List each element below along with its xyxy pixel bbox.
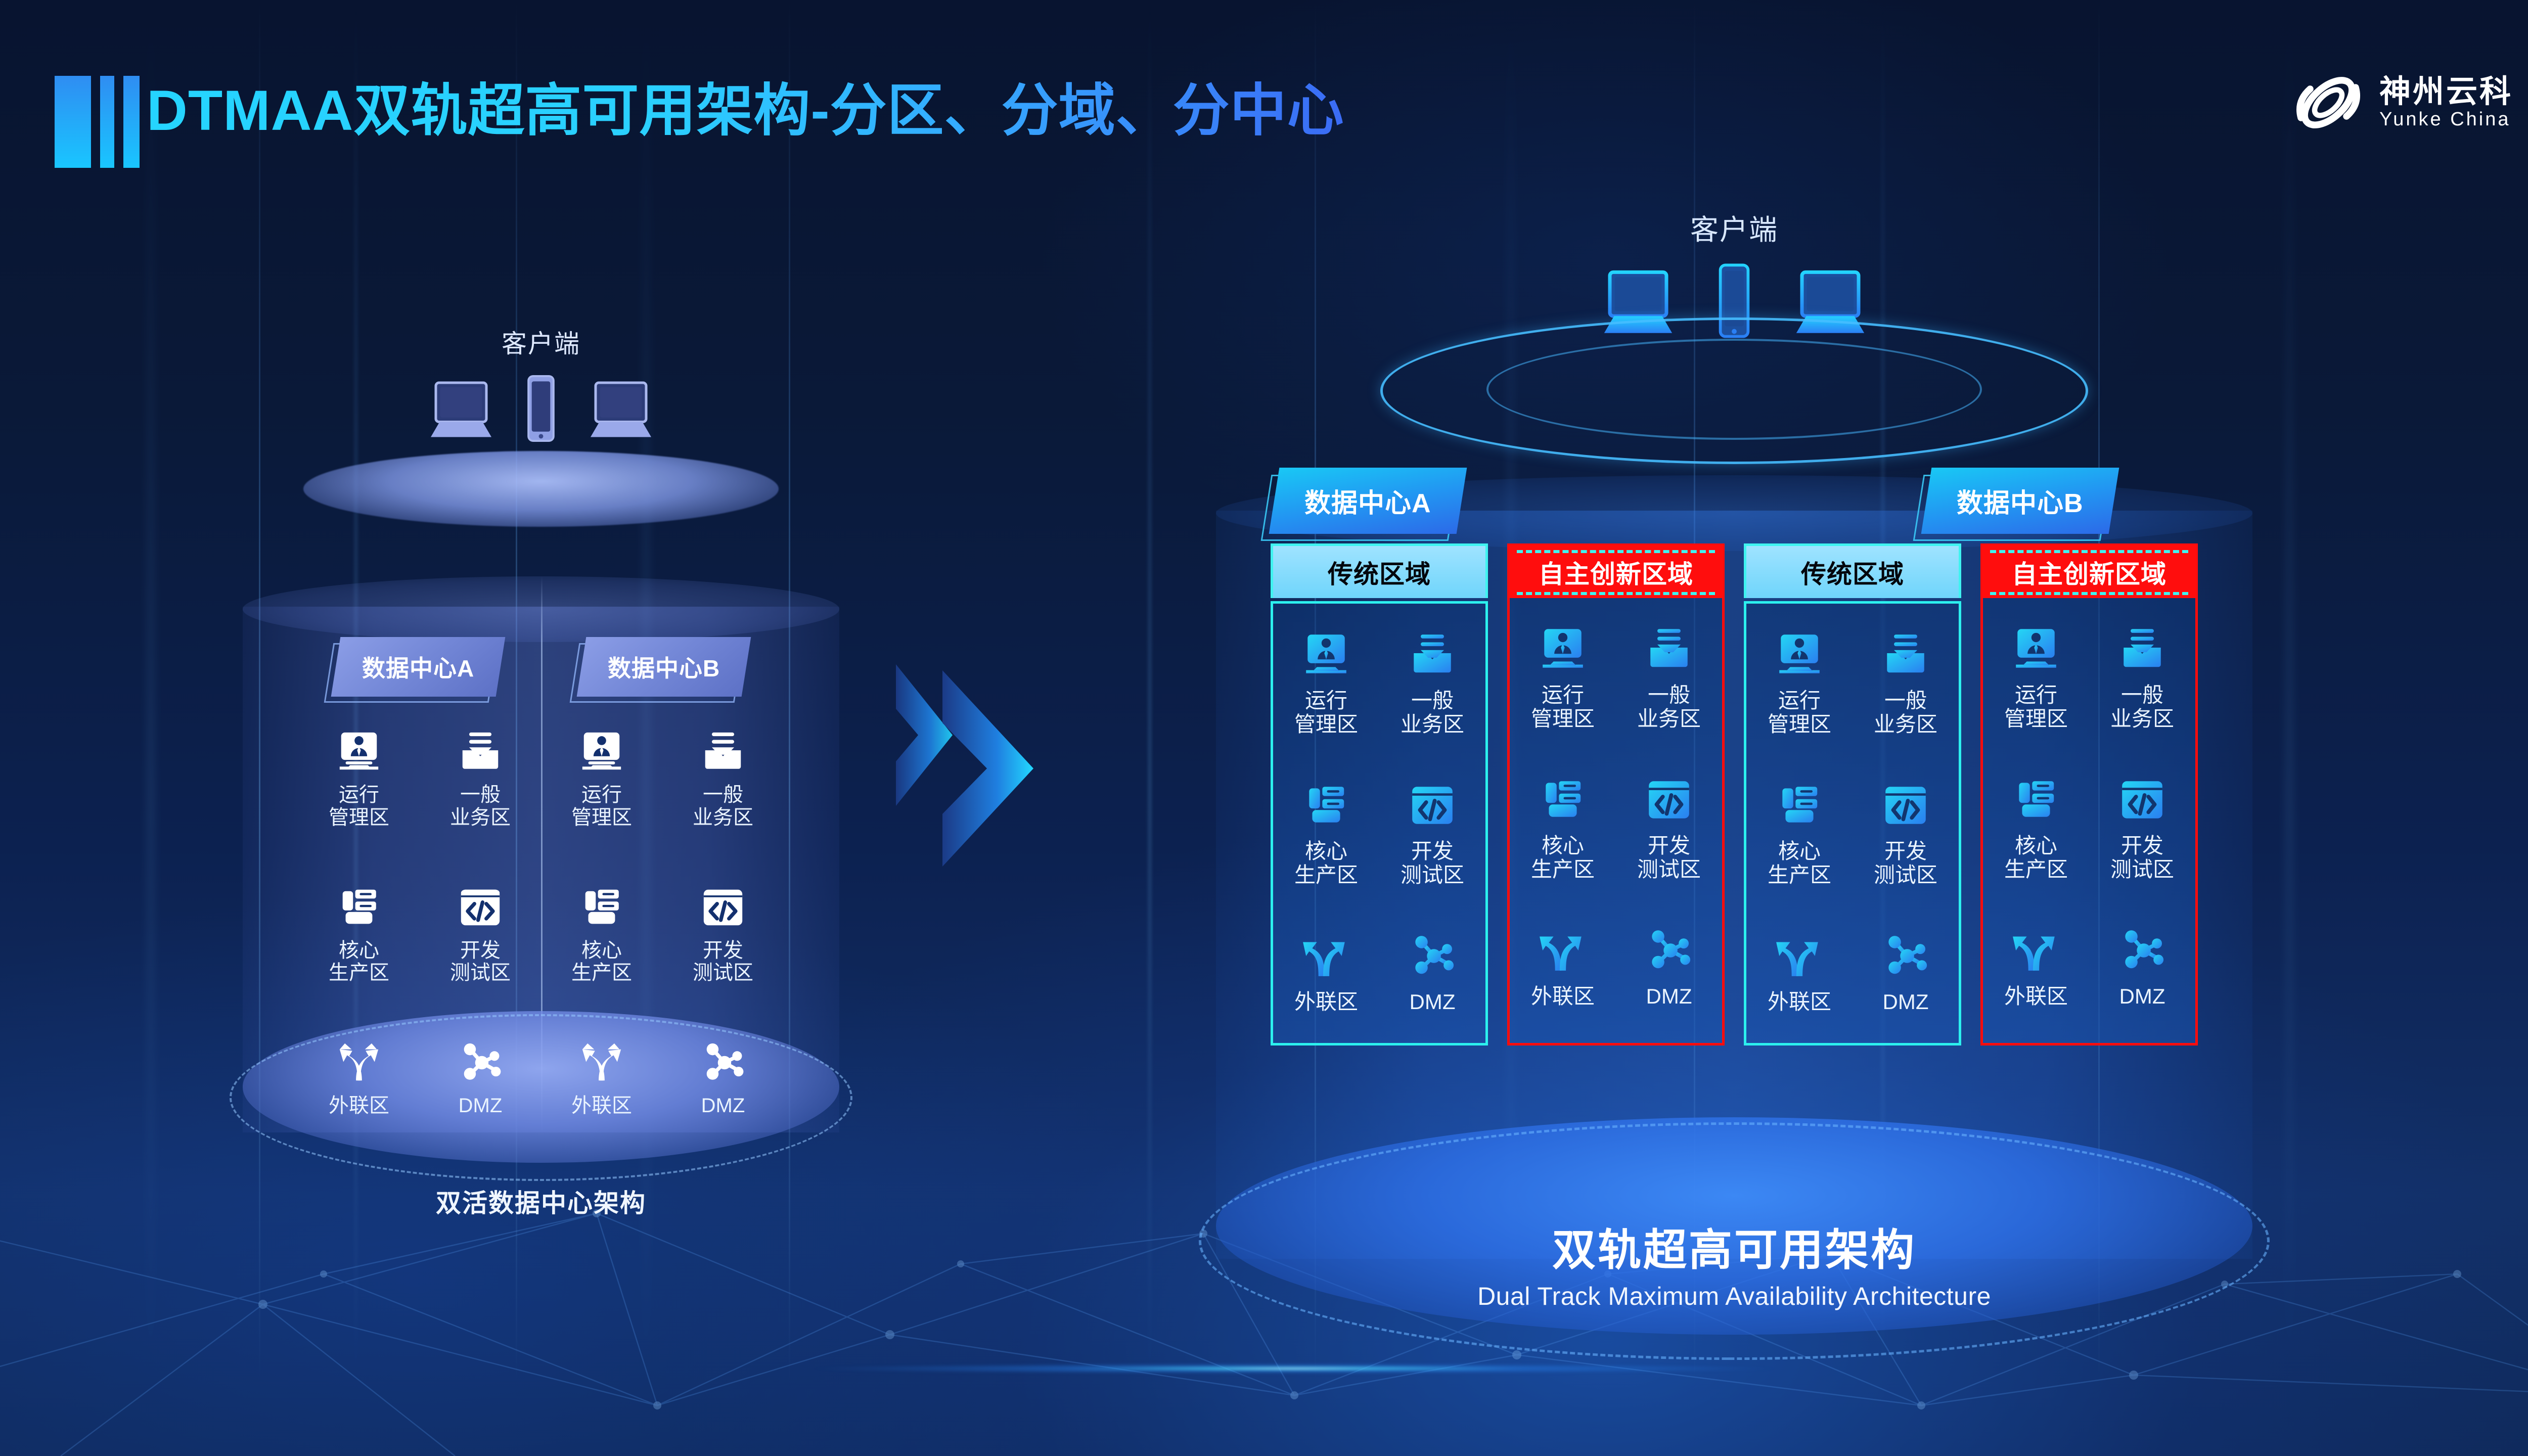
network-molecule-icon: [1881, 931, 1930, 981]
smartphone-icon: [524, 374, 558, 443]
left-zone-a-5[interactable]: DMZ: [430, 1039, 531, 1117]
right-panel-3-innovation[interactable]: 自主创新区域 运行 管理区 一般 业务区 核心 生产区 开发 测试区: [1980, 543, 2198, 1045]
left-zone-grids: 运行 管理区 一般 业务区 核心 生产区 开发 测试区 外联区 DMZ: [217, 728, 865, 1117]
right-panel-0-zone-1[interactable]: 一般 业务区: [1386, 630, 1479, 736]
network-molecule-icon: [1408, 931, 1457, 981]
right-panel-3-zone-4-label: 外联区: [2004, 984, 2068, 1008]
server-stack-icon: [2011, 775, 2061, 825]
left-zone-b-5[interactable]: DMZ: [672, 1039, 774, 1117]
left-zone-b-4-label: 外联区: [571, 1095, 632, 1117]
left-zone-b-5-label: DMZ: [701, 1095, 745, 1117]
server-stack-icon: [1301, 781, 1351, 830]
network-molecule-icon: [699, 1039, 747, 1086]
left-client-platform: [303, 451, 779, 527]
left-client-devices: [423, 374, 659, 443]
server-stack-icon: [578, 884, 625, 931]
brand-name-en: Yunke China: [2379, 110, 2513, 129]
user-monitor-icon: [335, 728, 383, 776]
right-panel-1-zone-0-label: 运行 管理区: [1531, 683, 1595, 731]
right-panel-0-zone-2[interactable]: 核心 生产区: [1280, 781, 1373, 887]
bottom-glow-beam: [688, 1362, 1901, 1375]
right-panel-1-zone-5-label: DMZ: [1646, 984, 1692, 1008]
left-zone-b-3-label: 开发 测试区: [693, 939, 753, 985]
right-panel-1-header: 自主创新区域: [1507, 543, 1725, 598]
right-panel-0-zone-3-label: 开发 测试区: [1401, 839, 1464, 887]
right-panel-0-zone-2-label: 核心 生产区: [1294, 839, 1358, 887]
right-panel-3-zone-1[interactable]: 一般 业务区: [2096, 624, 2189, 731]
code-window-icon: [1408, 781, 1457, 830]
right-panel-2-zone-0-label: 运行 管理区: [1768, 689, 1831, 736]
left-zone-a-5-label: DMZ: [459, 1095, 503, 1117]
right-panel-1-zone-4-label: 外联区: [1531, 984, 1595, 1008]
right-panel-2-traditional[interactable]: 传统区域 运行 管理区 一般 业务区 核心 生产区 开发 测试区: [1744, 543, 1961, 1045]
right-panel-1-innovation[interactable]: 自主创新区域 运行 管理区 一般 业务区 核心 生产区 开发 测试区: [1507, 543, 1725, 1045]
inbox-tray-icon: [699, 728, 747, 776]
right-panel-1-zone-0[interactable]: 运行 管理区: [1516, 624, 1610, 731]
network-molecule-icon: [1644, 926, 1694, 975]
network-molecule-icon: [2117, 926, 2167, 975]
server-stack-icon: [1538, 775, 1588, 825]
right-panel-3-zone-2-label: 核心 生产区: [2004, 834, 2068, 881]
inbox-tray-icon: [2117, 624, 2167, 674]
user-monitor-icon: [2011, 624, 2061, 674]
right-panel-0-traditional[interactable]: 传统区域 运行 管理区 一般 业务区 核心 生产区 开发 测试区: [1271, 543, 1488, 1045]
right-panel-1-zone-4[interactable]: 外联区: [1516, 926, 1610, 1008]
server-stack-icon: [1775, 781, 1824, 830]
server-stack-icon: [335, 884, 383, 931]
branching-arrows-icon: [335, 1039, 383, 1086]
branching-arrows-icon: [1538, 926, 1588, 975]
left-zone-a-0[interactable]: 运行 管理区: [308, 728, 410, 829]
left-client-label: 客户端: [217, 324, 865, 360]
right-client-ring-inner: [1486, 339, 1982, 440]
inbox-tray-icon: [1408, 630, 1457, 679]
right-panel-0-zone-1-label: 一般 业务区: [1401, 689, 1464, 736]
left-zone-a-1[interactable]: 一般 业务区: [430, 728, 531, 829]
right-architecture-diagram: 客户端 数据中心A: [1001, 172, 2467, 1335]
user-monitor-icon: [1775, 630, 1824, 679]
right-diagram-caption: 双轨超高可用架构 Dual Track Maximum Availability…: [1001, 1226, 2467, 1311]
right-panel-2-zone-2-label: 核心 生产区: [1768, 839, 1831, 887]
brand-logo: 神州云科 Yunke China: [2290, 65, 2513, 141]
left-zone-b-4[interactable]: 外联区: [551, 1039, 652, 1117]
right-panel-2-zone-4-label: 外联区: [1768, 990, 1831, 1014]
left-datacenter-badge-b[interactable]: 数据中心B: [581, 637, 746, 697]
title-accent-bars-icon: [55, 76, 140, 168]
laptop-icon: [423, 378, 499, 443]
branching-arrows-icon: [1301, 931, 1351, 981]
right-panel-3-zone-0[interactable]: 运行 管理区: [1990, 624, 2083, 731]
right-panel-3-zone-2[interactable]: 核心 生产区: [1990, 775, 2083, 881]
right-panel-3-header: 自主创新区域: [1980, 543, 2198, 598]
left-zone-b-3[interactable]: 开发 测试区: [672, 884, 774, 985]
right-panel-2-zone-1-label: 一般 业务区: [1874, 689, 1937, 736]
laptop-icon: [583, 378, 659, 443]
left-zone-a-3[interactable]: 开发 测试区: [430, 884, 531, 985]
right-panel-1-body: 运行 管理区 一般 业务区 核心 生产区 开发 测试区 外联区: [1507, 598, 1725, 1045]
code-window-icon: [1881, 781, 1930, 830]
right-panel-1-zone-5[interactable]: DMZ: [1622, 926, 1716, 1008]
right-panel-2-body: 运行 管理区 一般 业务区 核心 生产区 开发 测试区 外联区: [1744, 601, 1961, 1045]
inbox-tray-icon: [1881, 630, 1930, 679]
right-panel-1-zone-3[interactable]: 开发 测试区: [1622, 775, 1716, 881]
code-window-icon: [2117, 775, 2167, 825]
right-panel-1-zone-3-label: 开发 测试区: [1637, 834, 1701, 881]
left-architecture-diagram: 客户端 数据中心A 数据中心B: [217, 324, 865, 1234]
right-panel-0-body: 运行 管理区 一般 业务区 核心 生产区 开发 测试区 外联区: [1271, 601, 1488, 1045]
right-panel-1-zone-1[interactable]: 一般 业务区: [1622, 624, 1716, 731]
right-panel-1-zone-2-label: 核心 生产区: [1531, 834, 1595, 881]
right-panel-3-zone-0-label: 运行 管理区: [2004, 683, 2068, 731]
page-title: DTMAA双轨超高可用架构-分区、分域、分中心: [147, 65, 1344, 147]
left-zone-a-3-label: 开发 测试区: [450, 939, 511, 985]
left-zone-b-2[interactable]: 核心 生产区: [551, 884, 652, 985]
right-panel-2-zone-1[interactable]: 一般 业务区: [1859, 630, 1953, 736]
left-datacenter-badge-a[interactable]: 数据中心A: [336, 637, 501, 697]
branching-arrows-icon: [578, 1039, 625, 1086]
right-zone-panels: 传统区域 运行 管理区 一般 业务区 核心 生产区 开发 测试区: [1271, 543, 2198, 1045]
left-datacenter-badges: 数据中心A 数据中心B: [217, 637, 865, 697]
right-panel-2-zone-4[interactable]: 外联区: [1753, 931, 1846, 1014]
code-window-icon: [699, 884, 747, 931]
left-zone-b-1[interactable]: 一般 业务区: [672, 728, 774, 829]
right-client-label: 客户端: [1001, 207, 2467, 248]
left-zone-b-0-label: 运行 管理区: [571, 784, 632, 829]
right-panel-2-zone-5-label: DMZ: [1883, 990, 1929, 1014]
double-chevron-right-icon: [890, 662, 1042, 875]
right-panel-1-zone-2[interactable]: 核心 生产区: [1516, 775, 1610, 881]
right-panel-0-zone-5[interactable]: DMZ: [1386, 931, 1479, 1014]
right-datacenter-badge-b-label: 数据中心B: [1957, 482, 2084, 520]
inbox-tray-icon: [457, 728, 504, 776]
inbox-tray-icon: [1644, 624, 1694, 674]
branching-arrows-icon: [1775, 931, 1824, 981]
code-window-icon: [1644, 775, 1694, 825]
branching-arrows-icon: [2011, 926, 2061, 975]
right-panel-3-zone-5[interactable]: DMZ: [2096, 926, 2189, 1008]
left-zone-a-2-label: 核心 生产区: [329, 939, 389, 985]
left-zone-b-1-label: 一般 业务区: [693, 784, 753, 829]
left-zone-b-2-label: 核心 生产区: [571, 939, 632, 985]
user-monitor-icon: [578, 728, 625, 776]
left-diagram-caption: 双活数据中心架构: [217, 1183, 865, 1219]
right-panel-2-zone-0[interactable]: 运行 管理区: [1753, 630, 1846, 736]
right-panel-2-zone-2[interactable]: 核心 生产区: [1753, 781, 1846, 887]
right-panel-3-zone-1-label: 一般 业务区: [2110, 683, 2174, 731]
right-panel-0-zone-0[interactable]: 运行 管理区: [1280, 630, 1373, 736]
right-panel-0-header: 传统区域: [1271, 543, 1488, 598]
right-panel-3-zone-3[interactable]: 开发 测试区: [2096, 775, 2189, 881]
right-panel-3-zone-5-label: DMZ: [2119, 984, 2165, 1008]
right-panel-0-zone-4[interactable]: 外联区: [1280, 931, 1373, 1014]
user-monitor-icon: [1301, 630, 1351, 679]
swirl-logo-icon: [2290, 65, 2366, 141]
left-zone-a-2[interactable]: 核心 生产区: [308, 884, 410, 985]
right-datacenter-badge-b[interactable]: 数据中心B: [1926, 468, 2114, 534]
right-caption-en: Dual Track Maximum Availability Architec…: [1001, 1282, 2467, 1311]
right-panel-2-zone-5[interactable]: DMZ: [1859, 931, 1953, 1014]
brand-name-cn: 神州云科: [2379, 76, 2513, 108]
user-monitor-icon: [1538, 624, 1588, 674]
right-panel-2-zone-3-label: 开发 测试区: [1874, 839, 1937, 887]
right-panel-0-zone-3[interactable]: 开发 测试区: [1386, 781, 1479, 887]
left-zone-a-4[interactable]: 外联区: [308, 1039, 410, 1117]
left-zone-a-1-label: 一般 业务区: [450, 784, 511, 829]
code-window-icon: [457, 884, 504, 931]
left-zone-a-0-label: 运行 管理区: [329, 784, 389, 829]
page-header: DTMAA双轨超高可用架构-分区、分域、分中心 神州云科 Yunke China: [0, 0, 2528, 172]
network-molecule-icon: [457, 1039, 504, 1086]
right-caption-cn: 双轨超高可用架构: [1001, 1226, 2467, 1275]
left-zone-grid-b: 运行 管理区 一般 业务区 核心 生产区 开发 测试区 外联区 DMZ: [541, 728, 784, 1117]
left-zone-grid-a: 运行 管理区 一般 业务区 核心 生产区 开发 测试区 外联区 DMZ: [298, 728, 541, 1117]
right-panel-2-header: 传统区域: [1744, 543, 1961, 598]
right-panel-3-zone-3-label: 开发 测试区: [2110, 834, 2174, 881]
brand-logo-text: 神州云科 Yunke China: [2379, 76, 2513, 129]
right-panel-3-body: 运行 管理区 一般 业务区 核心 生产区 开发 测试区 外联区: [1980, 598, 2198, 1045]
right-panel-2-zone-3[interactable]: 开发 测试区: [1859, 781, 1953, 887]
left-datacenter-badge-b-label: 数据中心B: [608, 650, 720, 684]
right-datacenter-badge-a[interactable]: 数据中心A: [1274, 468, 1462, 534]
right-panel-0-zone-0-label: 运行 管理区: [1294, 689, 1358, 736]
left-zone-a-4-label: 外联区: [329, 1095, 389, 1117]
right-panel-0-zone-5-label: DMZ: [1410, 990, 1456, 1014]
left-datacenter-badge-a-label: 数据中心A: [362, 650, 474, 684]
right-panel-3-zone-4[interactable]: 外联区: [1990, 926, 2083, 1008]
left-zone-b-0[interactable]: 运行 管理区: [551, 728, 652, 829]
right-datacenter-badge-a-label: 数据中心A: [1304, 482, 1431, 520]
right-panel-1-zone-1-label: 一般 业务区: [1637, 683, 1701, 731]
right-panel-0-zone-4-label: 外联区: [1294, 990, 1358, 1014]
